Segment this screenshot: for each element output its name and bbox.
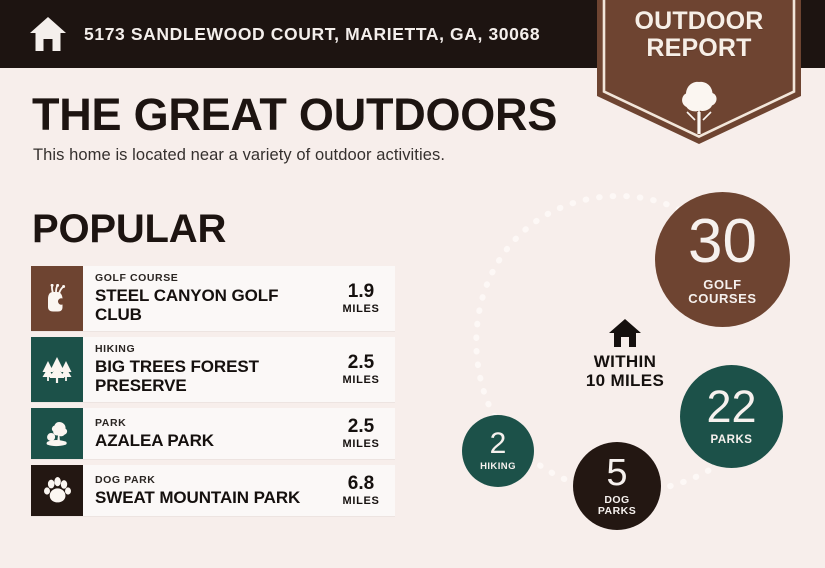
popular-places-list: GOLF COURSE STEEL CANYON GOLF CLUB 1.9 M… [31,266,395,522]
list-item-body: GOLF COURSE STEEL CANYON GOLF CLUB 1.9 M… [83,266,395,331]
park-tree-icon [42,420,72,448]
stat-label: PARKS [711,434,753,446]
list-item-category: GOLF COURSE [95,272,329,285]
stat-label: GOLF COURSES [688,278,756,306]
stat-label-line-1: GOLF [688,278,756,292]
distance-unit: MILES [337,438,385,450]
list-item-category: HIKING [95,343,329,356]
stat-label-line-2: PARKS [598,506,636,517]
golf-bag-icon [43,284,71,314]
list-item[interactable]: PARK AZALEA PARK 2.5 MILES [31,408,395,459]
stat-count: 2 [490,430,507,459]
list-item-distance: 2.5 MILES [329,353,385,386]
home-icon [28,15,68,53]
list-item-name: AZALEA PARK [95,431,329,450]
list-item-body: HIKING BIG TREES FOREST PRESERVE 2.5 MIL… [83,337,395,402]
distance-value: 2.5 [337,353,385,372]
list-item-body: PARK AZALEA PARK 2.5 MILES [83,408,395,459]
list-item[interactable]: GOLF COURSE STEEL CANYON GOLF CLUB 1.9 M… [31,266,395,331]
badge-line-2: REPORT [597,35,801,62]
list-item-name: BIG TREES FOREST PRESERVE [95,357,300,395]
distance-unit: MILES [337,374,385,386]
pine-trees-icon [41,356,73,384]
header-content: 5173 SANDLEWOOD COURT, MARIETTA, GA, 300… [28,0,540,68]
stat-count: 5 [606,455,627,491]
list-item-name: STEEL CANYON GOLF CLUB [95,286,329,324]
page-title: THE GREAT OUTDOORS [32,92,557,137]
stat-bubble-golf-courses[interactable]: 30 GOLF COURSES [655,192,790,327]
list-item[interactable]: HIKING BIG TREES FOREST PRESERVE 2.5 MIL… [31,337,395,402]
property-address: 5173 SANDLEWOOD COURT, MARIETTA, GA, 300… [84,24,540,45]
outdoor-report-badge: OUTDOOR REPORT [597,0,801,144]
list-item-icon-tile [31,337,83,402]
home-icon [545,318,705,348]
center-line-2: 10 MILES [545,371,705,390]
badge-title: OUTDOOR REPORT [597,8,801,62]
list-item-icon-tile [31,266,83,331]
outdoor-report-infographic: 5173 SANDLEWOOD COURT, MARIETTA, GA, 300… [0,0,825,568]
distance-unit: MILES [337,303,385,315]
list-item-name: SWEAT MOUNTAIN PARK [95,488,329,507]
list-item-texts: HIKING BIG TREES FOREST PRESERVE [95,343,329,395]
stat-count: 22 [706,386,756,429]
stat-label: DOG PARKS [598,495,636,518]
list-item[interactable]: DOG PARK SWEAT MOUNTAIN PARK 6.8 MILES [31,465,395,516]
distance-value: 6.8 [337,474,385,493]
list-item-icon-tile [31,465,83,516]
list-item-distance: 1.9 MILES [329,282,385,315]
stat-label-line-2: COURSES [688,292,756,306]
list-item-distance: 2.5 MILES [329,417,385,450]
list-item-icon-tile [31,408,83,459]
list-item-category: DOG PARK [95,474,329,487]
distance-value: 1.9 [337,282,385,301]
stat-bubble-dog-parks[interactable]: 5 DOG PARKS [573,442,661,530]
list-item-texts: DOG PARK SWEAT MOUNTAIN PARK [95,474,329,507]
page-subtitle: This home is located near a variety of o… [33,146,445,165]
badge-line-1: OUTDOOR [597,8,801,35]
list-item-body: DOG PARK SWEAT MOUNTAIN PARK 6.8 MILES [83,465,395,516]
distance-value: 2.5 [337,417,385,436]
paw-print-icon [43,476,72,505]
stat-label: HIKING [480,462,516,472]
amenities-diagram: 30 GOLF COURSES 22 PARKS 5 DOG PARKS 2 H… [430,170,825,568]
list-item-distance: 6.8 MILES [329,474,385,507]
center-line-1: WITHIN [545,352,705,371]
stat-count: 30 [688,213,757,272]
section-heading-popular: POPULAR [32,209,226,249]
list-item-texts: PARK AZALEA PARK [95,417,329,450]
distance-unit: MILES [337,495,385,507]
list-item-texts: GOLF COURSE STEEL CANYON GOLF CLUB [95,272,329,324]
stat-bubble-hiking[interactable]: 2 HIKING [462,415,534,487]
diagram-center-marker: WITHIN 10 MILES [545,318,705,390]
list-item-category: PARK [95,417,329,430]
